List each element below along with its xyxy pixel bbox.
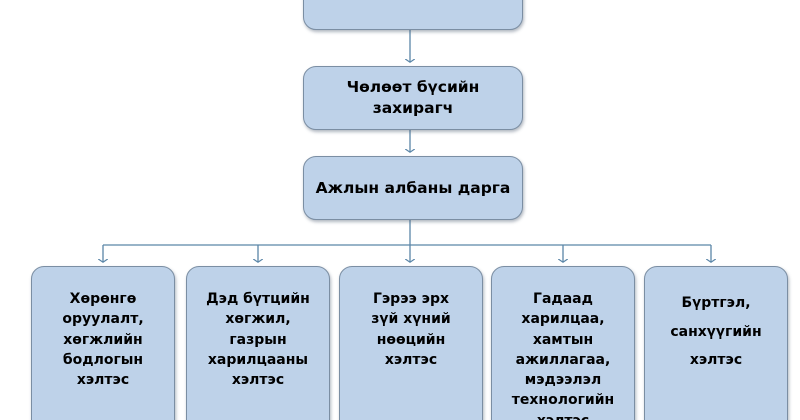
org-node-department-label: Хөрөнгө оруулалт, хөгжлийн бодлогын хэлт… xyxy=(39,289,167,390)
org-node-department-label: Гадаад харилцаа, хамтын ажиллагаа, мэдээ… xyxy=(499,289,627,420)
org-node-department[interactable]: Дэд бүтцийн хөгжил, газрын харилцааны хэ… xyxy=(186,266,330,420)
org-node-department[interactable]: Гадаад харилцаа, хамтын ажиллагаа, мэдээ… xyxy=(491,266,635,420)
org-node-department-label: Бүртгэл, санхүүгийн хэлтэс xyxy=(652,289,780,375)
org-node-department[interactable]: Хөрөнгө оруулалт, хөгжлийн бодлогын хэлт… xyxy=(31,266,175,420)
org-chart-canvas: Чөлөөт бүсийн захирагч Ажлын албаны дарг… xyxy=(0,0,800,420)
org-node-department-label: Гэрээ эрх зүй хүний нөөцийн хэлтэс xyxy=(347,289,475,370)
org-node-department[interactable]: Гэрээ эрх зүй хүний нөөцийн хэлтэс xyxy=(339,266,483,420)
org-node-department[interactable]: Бүртгэл, санхүүгийн хэлтэс xyxy=(644,266,788,420)
org-node-top[interactable] xyxy=(303,0,523,30)
org-node-chief[interactable]: Ажлын албаны дарга xyxy=(303,156,523,220)
org-node-governor-label: Чөлөөт бүсийн захирагч xyxy=(304,77,522,118)
org-node-chief-label: Ажлын албаны дарга xyxy=(304,178,522,199)
org-node-department-label: Дэд бүтцийн хөгжил, газрын харилцааны хэ… xyxy=(194,289,322,390)
org-node-governor[interactable]: Чөлөөт бүсийн захирагч xyxy=(303,66,523,130)
